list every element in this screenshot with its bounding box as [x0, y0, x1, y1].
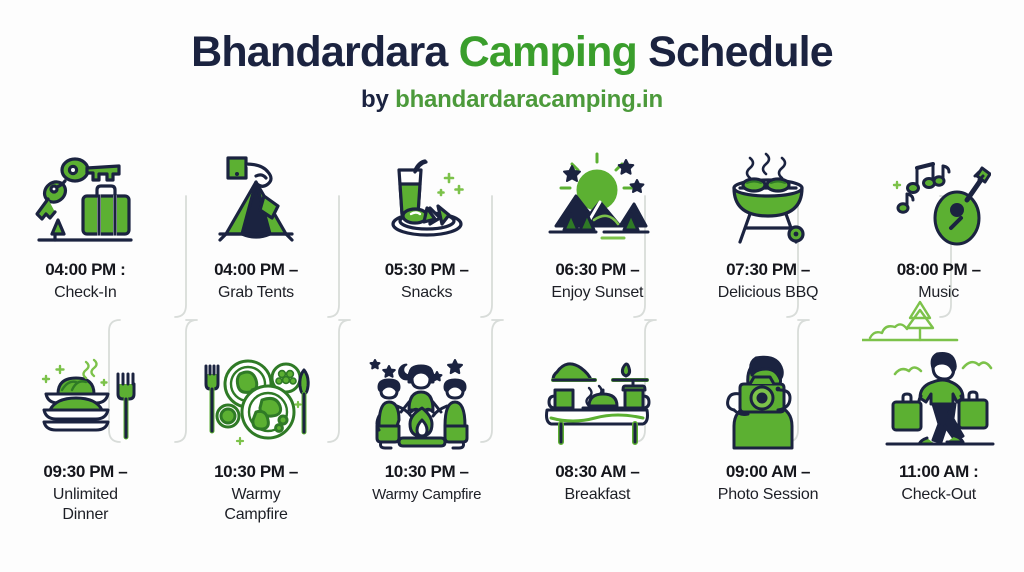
- schedule-cell-photo-session[interactable]: 09:00 AM – Photo Session: [683, 346, 854, 526]
- schedule-cell-warmy-campfire[interactable]: 10:30 PM – Warmy Campfire: [341, 346, 512, 526]
- schedule-label: Enjoy Sunset: [551, 283, 643, 303]
- infographic-page: Bhandardara Camping Schedule by bhandard…: [0, 0, 1024, 572]
- title-part-1: Bhandardara: [191, 28, 459, 76]
- tree-bush-scenery-icon: [862, 296, 972, 344]
- schedule-row-1: 04:00 PM : Check-In: [0, 144, 1024, 303]
- schedule-label: Check-Out: [901, 485, 976, 505]
- schedule-time: 05:30 PM –: [385, 260, 469, 280]
- subtitle-by: by: [361, 86, 395, 113]
- schedule-time: 04:00 PM :: [45, 260, 125, 280]
- schedule-label: Photo Session: [718, 485, 819, 505]
- schedule-time: 09:30 PM –: [43, 462, 127, 482]
- schedule-time: 06:30 PM –: [555, 260, 639, 280]
- schedule-time: 07:30 PM –: [726, 260, 810, 280]
- schedule-cell-check-out[interactable]: 11:00 AM : Check-Out: [853, 346, 1024, 526]
- campfire-people-icon: [345, 346, 508, 450]
- breakfast-table-icon: [516, 346, 679, 450]
- schedule-time: 08:30 AM –: [555, 462, 639, 482]
- schedule-cell-music[interactable]: 08:00 PM – Music: [853, 144, 1024, 303]
- schedule-time: 08:00 PM –: [897, 260, 981, 280]
- schedule-time: 10:30 PM –: [214, 462, 298, 482]
- schedule-label: UnlimitedDinner: [53, 485, 118, 526]
- schedule-cell-check-in[interactable]: 04:00 PM : Check-In: [0, 144, 171, 303]
- hand-tent-icon: [175, 144, 338, 248]
- schedule-cell-delicious-bbq[interactable]: 07:30 PM – Delicious BBQ: [683, 144, 854, 303]
- schedule-time: 09:00 AM –: [726, 462, 810, 482]
- title-part-2: Camping: [459, 28, 649, 76]
- dinner-plates-fork-icon: [4, 346, 167, 450]
- juice-plate-icon: [345, 144, 508, 248]
- schedule-cell-grab-tents[interactable]: 04:00 PM – Grab Tents: [171, 144, 342, 303]
- walking-luggage-icon: [857, 346, 1020, 450]
- schedule-label: Warmy Campfire: [372, 485, 481, 504]
- schedule-label: Grab Tents: [218, 283, 294, 303]
- schedule-time: 10:30 PM –: [385, 462, 469, 482]
- schedule-cell-warmy-campfire-food[interactable]: 10:30 PM – WarmyCampfire: [171, 346, 342, 526]
- keys-suitcase-icon: [4, 144, 167, 248]
- schedule-cell-unlimited-dinner[interactable]: 09:30 PM – UnlimitedDinner: [0, 346, 171, 526]
- schedule-cell-breakfast[interactable]: 08:30 AM – Breakfast: [512, 346, 683, 526]
- sunset-mountains-icon: [516, 144, 679, 248]
- food-plates-cutlery-icon: [175, 346, 338, 450]
- title-part-3: Schedule: [648, 28, 833, 76]
- schedule-label: Breakfast: [564, 485, 630, 505]
- schedule-row-2: 09:30 PM – UnlimitedDinner: [0, 346, 1024, 526]
- guitar-notes-icon: [857, 144, 1020, 248]
- page-subtitle: by bhandardaracamping.in: [0, 86, 1024, 114]
- schedule-cell-enjoy-sunset[interactable]: 06:30 PM – Enjoy Sunset: [512, 144, 683, 303]
- schedule-label: WarmyCampfire: [224, 485, 287, 526]
- subtitle-site: bhandardaracamping.in: [395, 86, 663, 113]
- header: Bhandardara Camping Schedule by bhandard…: [0, 30, 1024, 114]
- photographer-camera-icon: [687, 346, 850, 450]
- schedule-cell-snacks[interactable]: 05:30 PM – Snacks: [341, 144, 512, 303]
- page-title: Bhandardara Camping Schedule: [0, 30, 1024, 75]
- schedule-label: Check-In: [54, 283, 116, 303]
- schedule-time: 11:00 AM :: [899, 462, 978, 482]
- schedule-label: Snacks: [401, 283, 452, 303]
- schedule-label: Delicious BBQ: [718, 283, 819, 303]
- schedule-time: 04:00 PM –: [214, 260, 298, 280]
- bbq-grill-icon: [687, 144, 850, 248]
